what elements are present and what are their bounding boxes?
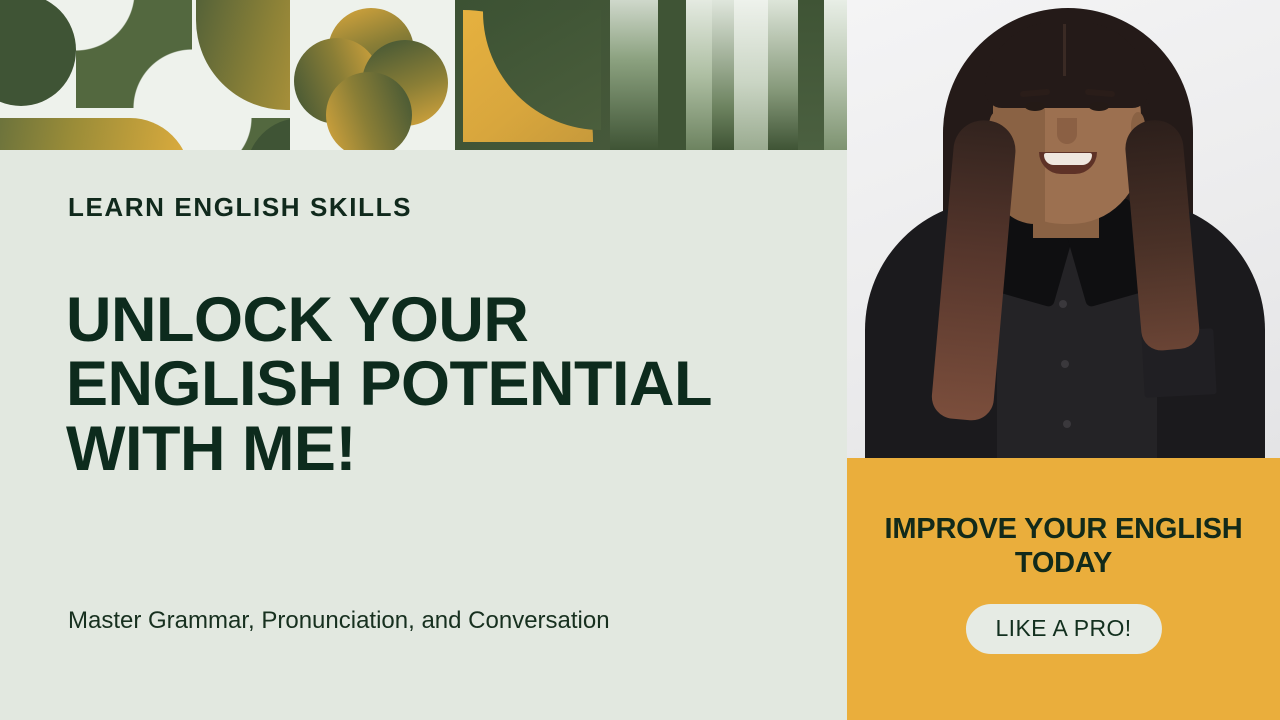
eye-right — [1089, 102, 1109, 111]
promo-poster: LEARN ENGLISH SKILLS UNLOCK YOUR ENGLISH… — [0, 0, 1280, 720]
decor-panel-quarter-arc-square — [455, 0, 610, 150]
decor-panel-vertical-gradient-bars — [610, 0, 847, 150]
page-title: UNLOCK YOUR ENGLISH POTENTIAL WITH ME! — [66, 288, 766, 481]
like-a-pro-button[interactable]: LIKE A PRO! — [965, 604, 1161, 654]
eye-left — [1025, 102, 1045, 111]
hair-part — [1063, 24, 1066, 76]
eyebrow-text: LEARN ENGLISH SKILLS — [68, 192, 412, 223]
left-content-column: LEARN ENGLISH SKILLS UNLOCK YOUR ENGLISH… — [0, 0, 847, 720]
teeth — [1044, 153, 1092, 165]
nose — [1057, 118, 1077, 144]
decor-panel-circles-and-leaf-grid — [0, 0, 290, 150]
geometric-header-band — [0, 0, 847, 150]
right-media-column: IMPROVE YOUR ENGLISH TODAY LIKE A PRO! — [847, 0, 1280, 720]
decor-panel-pinwheel-circles — [290, 0, 455, 150]
cta-block: IMPROVE YOUR ENGLISH TODAY LIKE A PRO! — [847, 458, 1280, 720]
shirt-button — [1063, 420, 1071, 428]
shirt-button — [1059, 300, 1067, 308]
instructor-portrait-photo — [847, 0, 1280, 458]
subheadline-text: Master Grammar, Pronunciation, and Conve… — [68, 604, 668, 637]
cta-title: IMPROVE YOUR ENGLISH TODAY — [847, 512, 1280, 580]
shirt-button — [1061, 360, 1069, 368]
